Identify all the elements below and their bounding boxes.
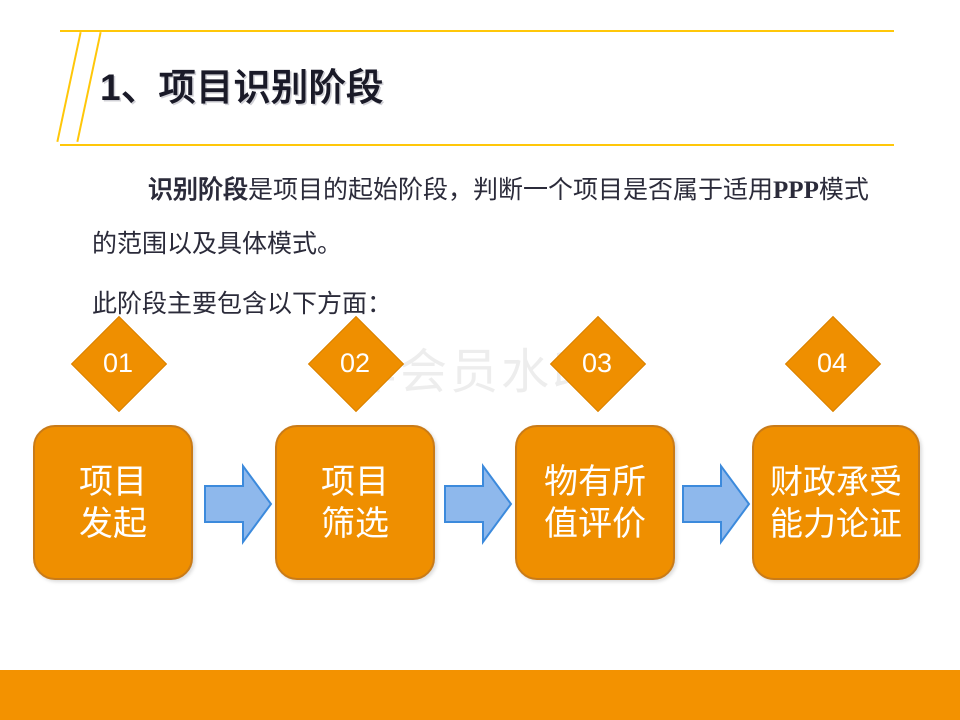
arrow-right-icon-1	[203, 462, 273, 546]
paragraph-definition: 识别阶段是项目的起始阶段，判断一个项目是否属于适用PPP模式的范围以及具体模式。	[92, 164, 892, 272]
badge-label: 02	[309, 317, 401, 409]
paragraph-bold-lead: 识别阶段	[148, 177, 248, 204]
process-step-label: 财政承受 能力论证	[770, 461, 902, 545]
badge-02: 02	[309, 317, 401, 409]
badge-label: 04	[786, 317, 878, 409]
title-slash-icon-left	[56, 32, 81, 142]
process-step-1[interactable]: 项目 发起	[33, 425, 193, 580]
paragraph-intro: 此阶段主要包含以下方面：	[92, 278, 892, 332]
badge-03: 03	[551, 317, 643, 409]
footer-bar	[0, 670, 960, 720]
process-step-label: 项目 发起	[79, 461, 147, 545]
paragraph-rest: 是项目的起始阶段，判断一个项目是否属于适用	[248, 177, 773, 204]
badge-04: 04	[786, 317, 878, 409]
title-rule-top	[60, 30, 894, 32]
process-step-label: 物有所 值评价	[544, 461, 646, 545]
badge-label: 01	[72, 317, 164, 409]
arrow-right-icon-2	[443, 462, 513, 546]
paragraph-bold-ppp: PPP	[773, 177, 819, 204]
process-step-4[interactable]: 财政承受 能力论证	[752, 425, 920, 580]
process-step-2[interactable]: 项目 筛选	[275, 425, 435, 580]
process-step-label: 项目 筛选	[321, 461, 389, 545]
arrow-right-icon-3	[681, 462, 751, 546]
page-title: 1、项目识别阶段	[100, 57, 384, 111]
body-text-block: 识别阶段是项目的起始阶段，判断一个项目是否属于适用PPP模式的范围以及具体模式。…	[92, 164, 892, 332]
badge-label: 03	[551, 317, 643, 409]
title-slash-icon-right	[76, 32, 101, 142]
slide-canvas: 1、项目识别阶段 识别阶段是项目的起始阶段，判断一个项目是否属于适用PPP模式的…	[0, 0, 960, 720]
process-step-3[interactable]: 物有所 值评价	[515, 425, 675, 580]
badge-01: 01	[72, 317, 164, 409]
title-rule-bottom	[60, 144, 894, 146]
